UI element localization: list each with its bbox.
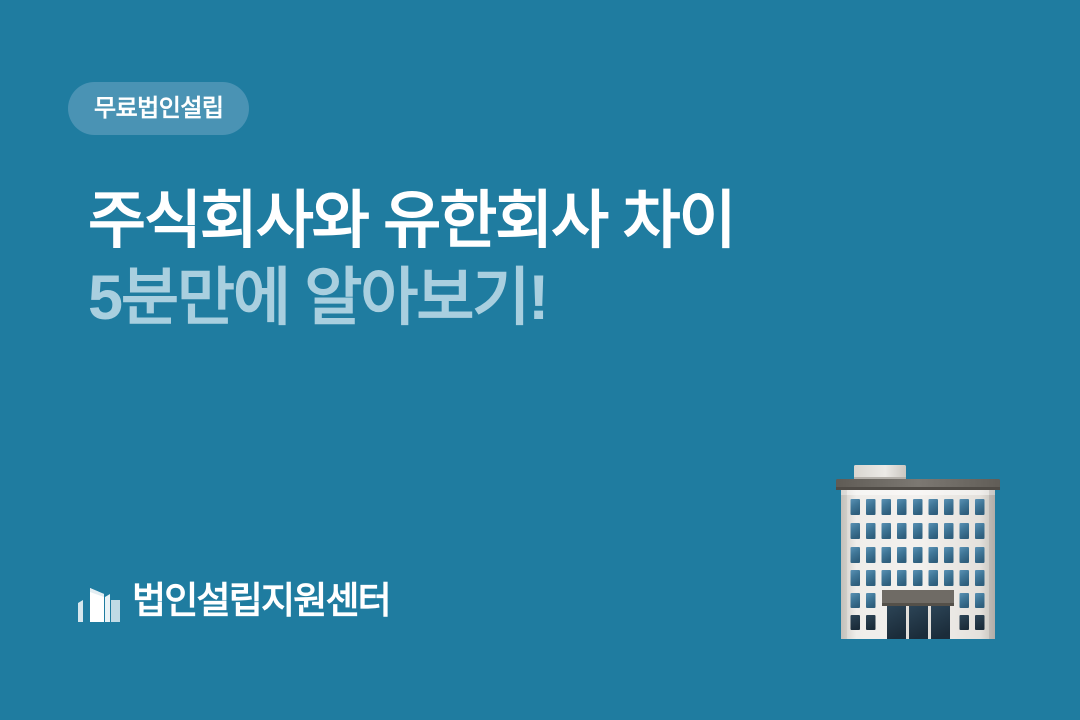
status-badge: 무료법인설립 (68, 82, 249, 135)
status-badge-label: 무료법인설립 (94, 97, 223, 121)
promo-banner: 무료법인설립 주식회사와 유한회사 차이 5분만에 알아보기! 법인설립지원센터 (0, 0, 1080, 720)
brand-lockup: 법인설립지원센터 (78, 578, 390, 622)
headline-line-primary: 주식회사와 유한회사 차이 (88, 183, 988, 260)
headline-line-secondary: 5분만에 알아보기! (88, 260, 988, 337)
brand-name: 법인설립지원센터 (132, 582, 390, 619)
page-title: 주식회사와 유한회사 차이 5분만에 알아보기! (88, 183, 988, 337)
office-building-icon (832, 462, 1004, 639)
building-skyline-icon (78, 578, 120, 622)
